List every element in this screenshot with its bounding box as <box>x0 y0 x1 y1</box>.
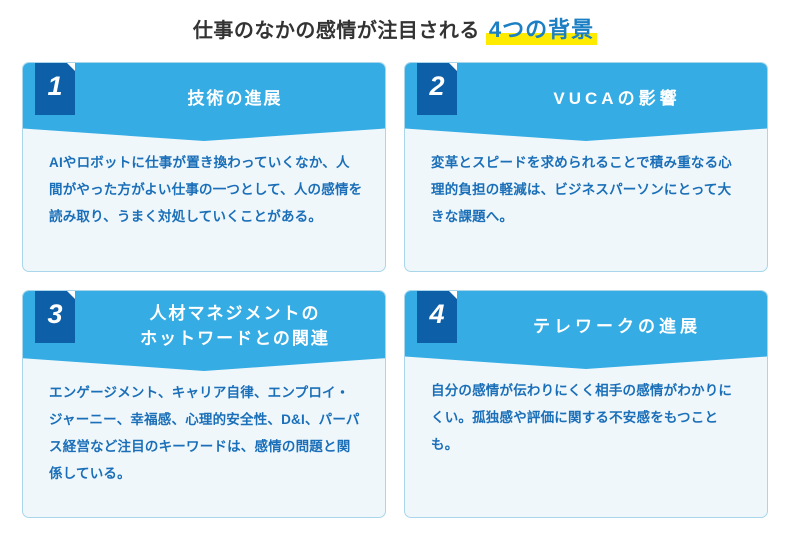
page-title-main: 仕事のなかの感情が注目される <box>193 20 480 42</box>
page-title: 仕事のなかの感情が注目される4つの背景 <box>0 12 790 44</box>
card-3-number-badge: 3 <box>35 290 75 343</box>
card-2-number-badge: 2 <box>417 62 457 115</box>
card-1: 技術の進展 1 AIやロボットに仕事が置き換わっていくなか、人間がやった方がよい… <box>22 62 386 272</box>
page-title-accent-text: 4つの背景 <box>489 17 594 42</box>
card-2-number: 2 <box>417 62 457 115</box>
card-3-body: エンゲージメント、キャリア自律、エンプロイ・ジャーニー、幸福感、心理的安全性、D… <box>23 371 385 487</box>
card-3: 人材マネジメントの ホットワードとの関連 3 エンゲージメント、キャリア自律、エ… <box>22 290 386 518</box>
card-4: テレワークの進展 4 自分の感情が伝わりにくく相手の感情がわかりにくい。孤独感や… <box>404 290 768 518</box>
card-2-header: VUCAの影響 <box>405 63 767 141</box>
card-1-number-badge: 1 <box>35 62 75 115</box>
card-grid: 技術の進展 1 AIやロボットに仕事が置き換わっていくなか、人間がやった方がよい… <box>22 62 768 518</box>
card-1-number: 1 <box>35 62 75 115</box>
card-3-heading: 人材マネジメントの ホットワードとの関連 <box>99 291 371 363</box>
card-2-body: 変革とスピードを求められることで積み重なる心理的負担の軽減は、ビジネスパーソンに… <box>405 141 767 230</box>
card-4-body: 自分の感情が伝わりにくく相手の感情がわかりにくい。孤独感や評価に関する不安感をも… <box>405 369 767 458</box>
card-4-header: テレワークの進展 <box>405 291 767 369</box>
card-4-number-badge: 4 <box>417 290 457 343</box>
card-4-heading: テレワークの進展 <box>481 291 753 363</box>
card-1-heading: 技術の進展 <box>99 63 371 135</box>
card-1-header: 技術の進展 <box>23 63 385 141</box>
card-1-body: AIやロボットに仕事が置き換わっていくなか、人間がやった方がよい仕事の一つとして… <box>23 141 385 230</box>
card-3-header: 人材マネジメントの ホットワードとの関連 <box>23 291 385 371</box>
page-title-accent: 4つの背景 <box>486 12 597 44</box>
card-2-heading: VUCAの影響 <box>481 63 753 135</box>
card-2: VUCAの影響 2 変革とスピードを求められることで積み重なる心理的負担の軽減は… <box>404 62 768 272</box>
card-4-number: 4 <box>417 290 457 343</box>
card-3-number: 3 <box>35 290 75 343</box>
